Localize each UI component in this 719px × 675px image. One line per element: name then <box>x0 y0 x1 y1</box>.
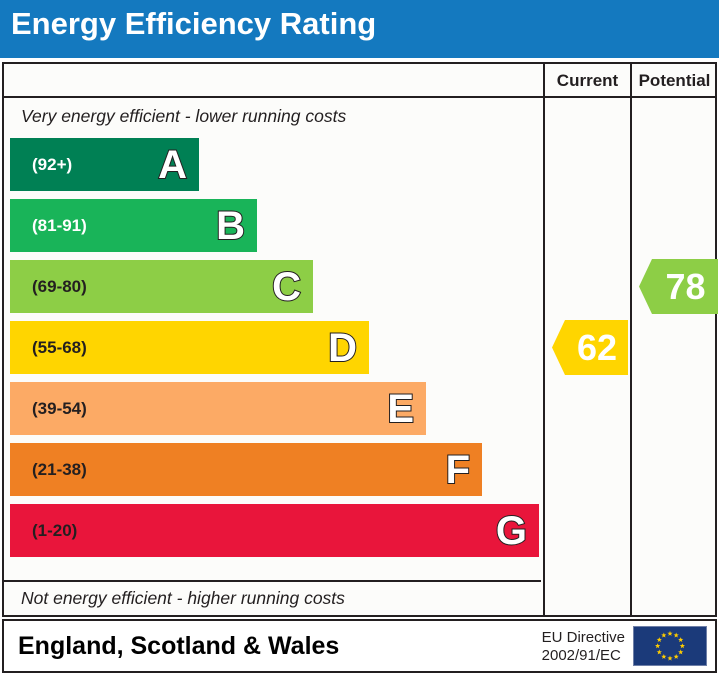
band-letter-g: G <box>496 511 527 551</box>
band-letter-f: F <box>446 450 470 490</box>
potential-column-divider <box>630 64 632 615</box>
region-label: England, Scotland & Wales <box>18 632 339 661</box>
band-range-d: (55-68) <box>32 338 87 358</box>
band-letter-a: A <box>158 145 187 185</box>
top-caption: Very energy efficient - lower running co… <box>4 106 541 127</box>
band-bar-a: (92+)A <box>10 138 199 191</box>
bottom-caption-divider <box>4 580 541 582</box>
chart-footer: England, Scotland & Wales EU Directive 2… <box>2 619 717 673</box>
band-range-a: (92+) <box>32 155 72 175</box>
column-header-row: Current Potential <box>4 64 715 98</box>
ratings-grid: Current Potential Very energy efficient … <box>2 62 717 617</box>
potential-rating-arrow: 78 <box>639 259 718 314</box>
band-range-c: (69-80) <box>32 277 87 297</box>
band-bar-e: (39-54)E <box>10 382 426 435</box>
potential-column-header: Potential <box>632 71 717 91</box>
band-letter-e: E <box>387 389 414 429</box>
band-bar-b: (81-91)B <box>10 199 257 252</box>
band-range-f: (21-38) <box>32 460 87 480</box>
band-range-g: (1-20) <box>32 521 77 541</box>
band-range-e: (39-54) <box>32 399 87 419</box>
band-bar-f: (21-38)F <box>10 443 482 496</box>
eu-directive-label: EU Directive 2002/91/EC <box>542 629 625 665</box>
potential-rating-value: 78 <box>651 269 705 305</box>
eu-flag-icon <box>633 626 707 666</box>
current-rating-arrow: 62 <box>552 320 628 375</box>
band-range-b: (81-91) <box>32 216 87 236</box>
band-bar-d: (55-68)D <box>10 321 369 374</box>
energy-efficiency-rating-chart: Energy Efficiency Rating Current Potenti… <box>0 0 719 675</box>
page-title: Energy Efficiency Rating <box>11 6 376 42</box>
eu-directive-line-2: 2002/91/EC <box>542 647 625 665</box>
current-column-header: Current <box>545 71 630 91</box>
eu-flag-stars <box>634 627 706 665</box>
band-bar-c: (69-80)C <box>10 260 313 313</box>
chart-title-bar: Energy Efficiency Rating <box>0 0 719 58</box>
bottom-caption: Not energy efficient - higher running co… <box>4 588 541 609</box>
eu-directive-line-1: EU Directive <box>542 629 625 647</box>
band-letter-c: C <box>272 267 301 307</box>
band-letter-d: D <box>328 328 357 368</box>
current-rating-value: 62 <box>563 330 617 366</box>
band-letter-b: B <box>216 206 245 246</box>
band-bar-g: (1-20)G <box>10 504 539 557</box>
current-column-divider <box>543 64 545 615</box>
